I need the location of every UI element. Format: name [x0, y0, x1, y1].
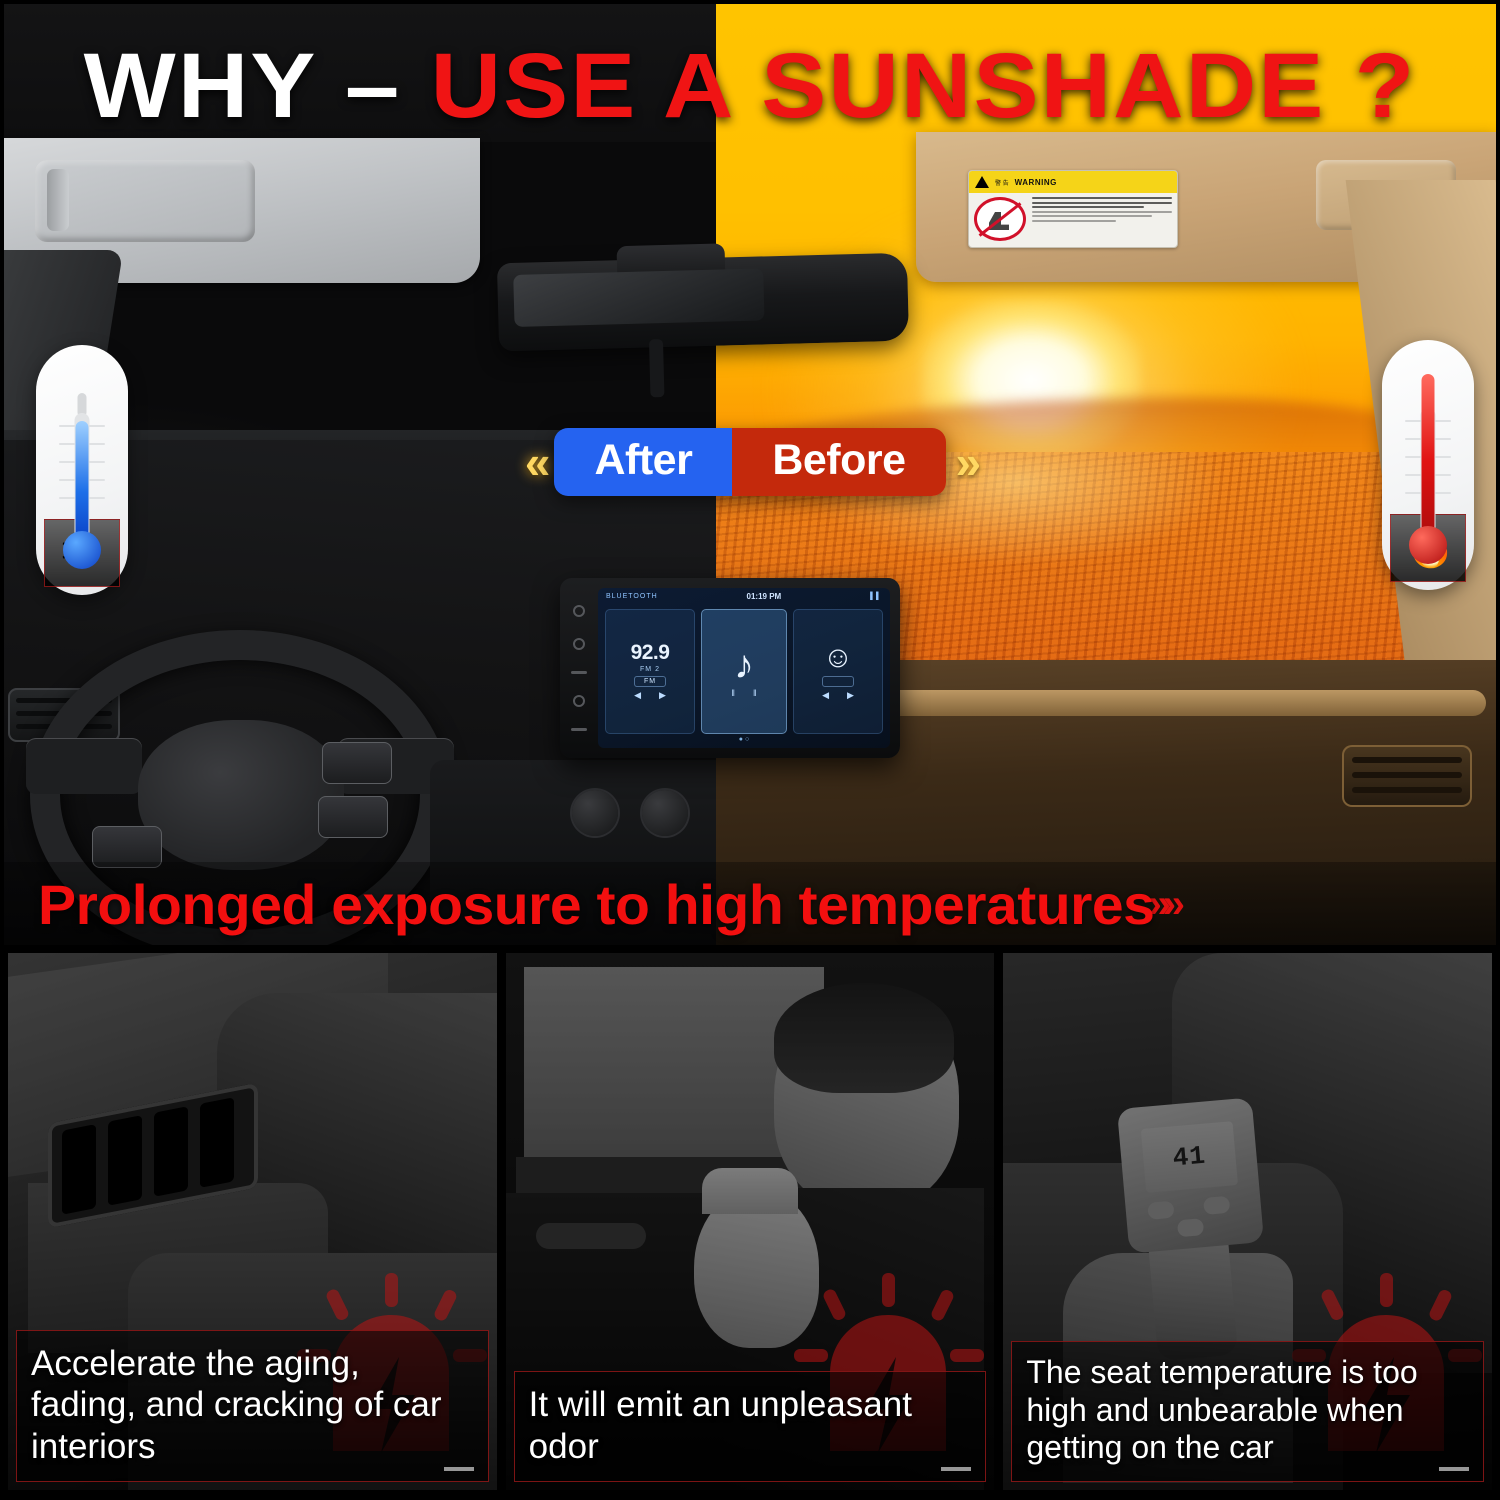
music-note-icon: ♪ [734, 645, 754, 685]
signal-icon: ▌▌ [870, 593, 882, 600]
page-dots: ● ○ [598, 736, 890, 743]
gun-button-3 [1177, 1218, 1204, 1237]
door-handle [536, 1223, 646, 1249]
gun-button-2 [1203, 1196, 1230, 1215]
phone-chip[interactable] [822, 676, 854, 687]
warning-label-cjk: 警 告 [995, 178, 1009, 187]
cold-thermometer-bulb [63, 531, 101, 569]
power-button-icon[interactable] [573, 605, 585, 617]
panel-caption: Accelerate the aging, fading, and cracki… [16, 1330, 489, 1482]
panel-caption-text: Accelerate the aging, fading, and cracki… [31, 1343, 474, 1467]
before-after-toggle[interactable]: « After Before » [0, 428, 1500, 496]
chevron-right-icon: » [956, 435, 976, 489]
radio-band-sub: FM 2 [640, 666, 660, 673]
thermometer-display: 41 [1141, 1121, 1238, 1193]
child-seat-glyph [989, 212, 1009, 230]
heat-warning-banner: Prolonged exposure to high temperatures … [0, 862, 1500, 945]
visor-mirror-cover [35, 160, 255, 242]
chevron-left-icon: « [525, 435, 545, 489]
airbag-warning-label: 警 告 WARNING [968, 170, 1178, 248]
music-next-icon[interactable]: ‖ [753, 688, 757, 698]
head-unit-side-buttons[interactable] [564, 594, 594, 742]
visor-bar [47, 169, 69, 231]
warning-label-body [969, 193, 1177, 245]
music-prev-icon[interactable]: ‖ [731, 688, 735, 698]
panel-unpleasant-odor: It will emit an unpleasant odor [506, 953, 995, 1490]
caption-dash [444, 1467, 474, 1471]
car-infotainment-unit[interactable]: BLUETOOTH 01:19 PM ▌▌ 92.9 FM 2 FM ◀ ▶ [560, 578, 900, 758]
phone-next-icon[interactable]: ▶ [847, 690, 854, 701]
music-tile[interactable]: ♪ ‖ ‖ [701, 609, 787, 734]
panel-caption-text: The seat temperature is too high and unb… [1026, 1354, 1469, 1467]
infotainment-screen[interactable]: BLUETOOTH 01:19 PM ▌▌ 92.9 FM 2 FM ◀ ▶ [598, 588, 890, 748]
radio-prev-icon[interactable]: ◀ [634, 690, 641, 701]
air-vent-right [1342, 745, 1472, 807]
title-red-part: USE A SUNSHADE ? [431, 35, 1417, 137]
music-controls[interactable]: ‖ ‖ [731, 688, 756, 698]
caption-dash [941, 1467, 971, 1471]
steering-spoke-left [26, 738, 142, 794]
title-white-part: WHY – [84, 35, 431, 137]
warning-label-header: 警 告 WARNING [969, 171, 1177, 193]
climate-knob-1 [572, 790, 618, 836]
caption-dash [1439, 1467, 1469, 1471]
climate-knob-2 [642, 790, 688, 836]
before-after-hero: 警 告 WARNING [0, 0, 1500, 945]
no-child-seat-icon [974, 197, 1026, 241]
warning-triangle-icon [975, 176, 989, 188]
man-hand [694, 1188, 819, 1348]
heat-warning-text: Prolonged exposure to high temperatures [38, 872, 1154, 937]
page-title: WHY – USE A SUNSHADE ? [0, 34, 1500, 139]
mirror-stalk [649, 339, 665, 397]
panel-caption: The seat temperature is too high and unb… [1011, 1341, 1484, 1482]
radio-next-icon[interactable]: ▶ [659, 690, 666, 701]
volume-button-icon[interactable] [571, 671, 587, 674]
mirror-glass [513, 268, 764, 327]
phone-prev-icon[interactable]: ◀ [822, 690, 829, 701]
airbag-hub [138, 720, 344, 870]
panel-caption-text: It will emit an unpleasant odor [529, 1384, 972, 1467]
phone-controls[interactable]: ◀ ▶ [822, 690, 854, 701]
eject-button-icon[interactable] [571, 728, 587, 731]
steering-button-pad-2 [322, 742, 392, 784]
warning-label-title: WARNING [1015, 178, 1057, 187]
person-icon: ☺ [823, 643, 854, 673]
man-hair [774, 983, 954, 1093]
infrared-thermometer-gun: 41 [1117, 1097, 1264, 1253]
panel-caption: It will emit an unpleasant odor [514, 1371, 987, 1482]
consequence-panels: Accelerate the aging, fading, and cracki… [0, 945, 1500, 1500]
after-badge[interactable]: After [554, 428, 732, 496]
radio-frequency: 92.9 [631, 642, 670, 663]
radio-controls[interactable]: ◀ ▶ [634, 690, 666, 701]
menu-button-icon[interactable] [573, 638, 585, 650]
infographic-root: 警 告 WARNING [0, 0, 1500, 1500]
steering-button-pad-3 [318, 796, 388, 838]
radio-band-chip[interactable]: FM [634, 676, 666, 687]
screen-tiles: 92.9 FM 2 FM ◀ ▶ ♪ ‖ ‖ [598, 604, 890, 734]
home-button-icon[interactable] [573, 695, 585, 707]
rearview-mirror [497, 253, 909, 352]
radio-tile[interactable]: 92.9 FM 2 FM ◀ ▶ [605, 609, 695, 734]
screen-clock: 01:19 PM [747, 592, 782, 601]
warning-label-text-lines [1032, 197, 1172, 241]
panel-interior-aging: Accelerate the aging, fading, and cracki… [8, 953, 497, 1490]
gun-button-1 [1148, 1201, 1175, 1220]
thermometer-reading: 41 [1172, 1141, 1208, 1174]
panel-seat-temperature: 41 The seat temper [1003, 953, 1492, 1490]
bluetooth-label: BLUETOOTH [606, 593, 658, 600]
before-badge[interactable]: Before [732, 428, 945, 496]
hot-thermometer-bulb [1409, 526, 1447, 564]
comparison-pill-group[interactable]: After Before [554, 428, 945, 496]
phone-tile[interactable]: ☺ ◀ ▶ [793, 609, 883, 734]
screen-status-bar: BLUETOOTH 01:19 PM ▌▌ [598, 588, 890, 604]
